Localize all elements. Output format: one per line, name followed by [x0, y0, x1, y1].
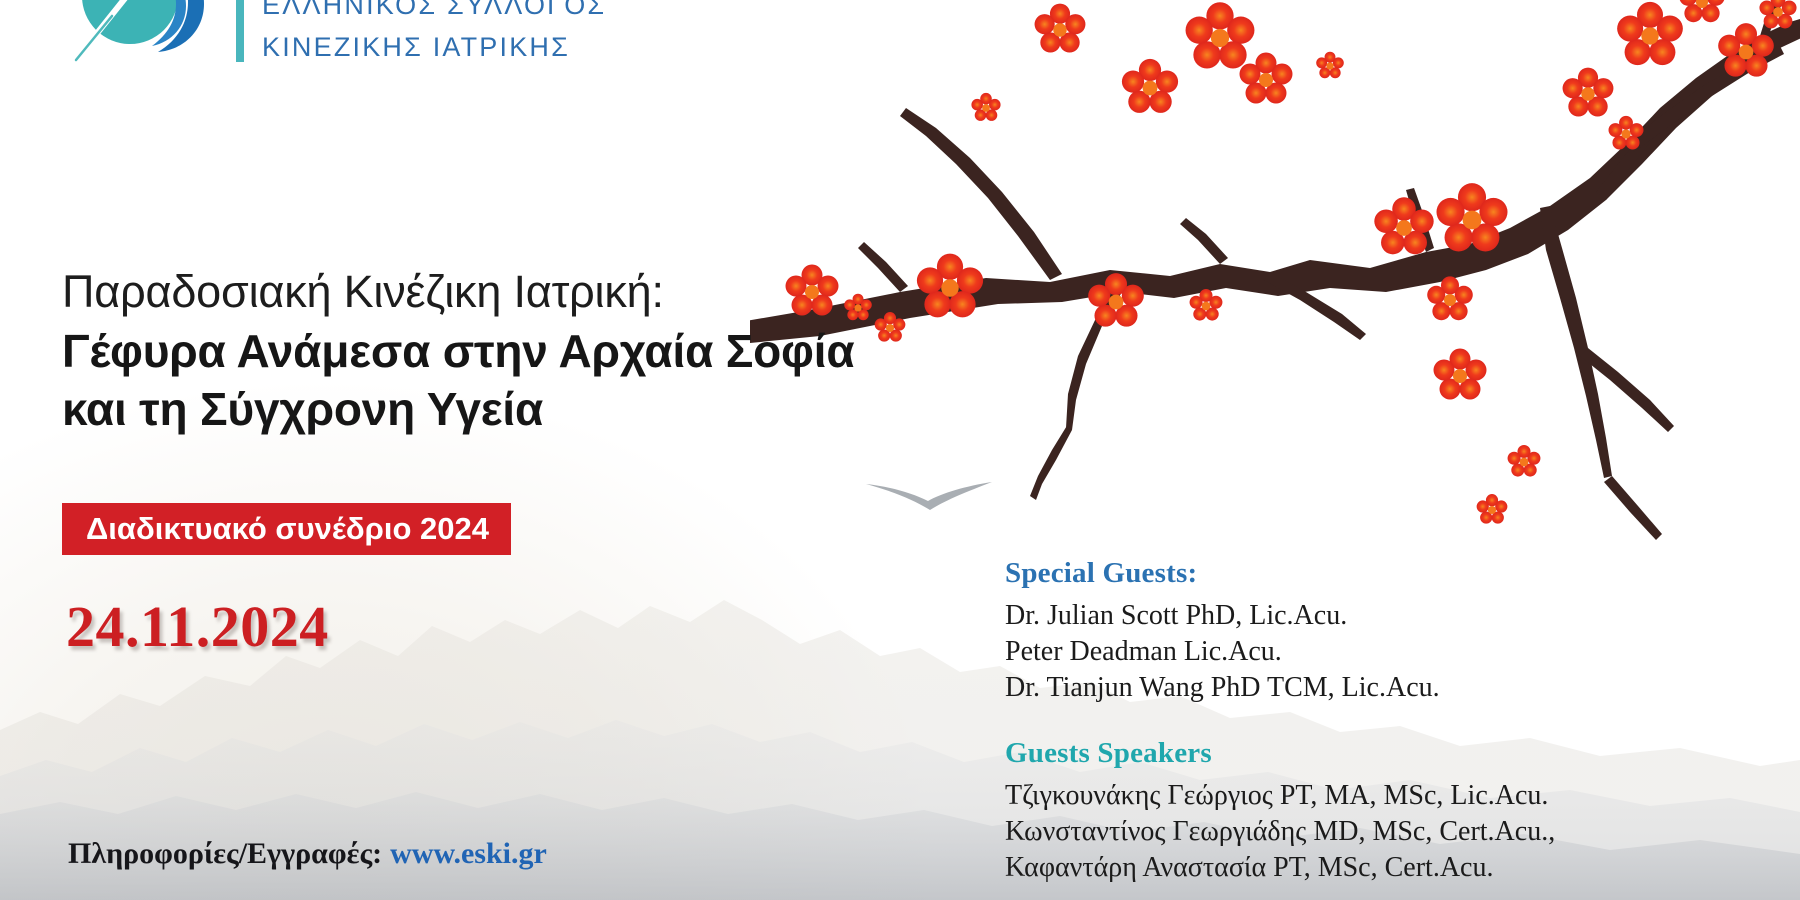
headline-line-2: Γέφυρα Ανάμεσα στην Αρχαία Σοφία	[62, 322, 942, 380]
event-type-banner: Διαδικτυακό συνέδριο 2024	[62, 503, 511, 555]
guest-speakers-heading: Guests Speakers	[1005, 732, 1705, 774]
logo-text-block: ΕΛΛΗΝΙΚΟΣ ΣΥΛΛΟΓΟΣ ΚΙΝΕΖΙΚΗΣ ΙΑΤΡΙΚΗΣ	[262, 0, 606, 68]
special-guests-heading: Special Guests:	[1005, 552, 1705, 594]
guest-speaker-item: Καφαντάρη Αναστασία PT, MSc, Cert.Acu.	[1005, 850, 1705, 886]
registration-info: Πληροφορίες/Εγγραφές:www.eski.gr	[68, 832, 547, 876]
flying-bird-silhouette	[862, 468, 1002, 528]
organization-logo: ΕΛΛΗΝΙΚΟΣ ΣΥΛΛΟΓΟΣ ΚΙΝΕΖΙΚΗΣ ΙΑΤΡΙΚΗΣ	[58, 0, 606, 72]
logo-divider	[236, 0, 244, 62]
special-guest-item: Dr. Julian Scott PhD, Lic.Acu.	[1005, 598, 1705, 634]
registration-label: Πληροφορίες/Εγγραφές:	[68, 837, 382, 870]
acupuncture-needle-emblem-icon	[58, 0, 218, 72]
guest-speaker-item: Τζιγκουνάκης Γεώργιος PT, MA, MSc, Lic.A…	[1005, 778, 1705, 814]
poster-headline: Παραδοσιακή Κινέζικη Ιατρική: Γέφυρα Ανά…	[62, 262, 942, 438]
guests-panel: Special Guests: Dr. Julian Scott PhD, Li…	[1005, 552, 1705, 886]
event-type-label: Διαδικτυακό συνέδριο 2024	[86, 503, 489, 555]
headline-line-1: Παραδοσιακή Κινέζικη Ιατρική:	[62, 262, 942, 322]
headline-line-3: και τη Σύγχρονη Υγεία	[62, 380, 942, 438]
poster-canvas: ΕΛΛΗΝΙΚΟΣ ΣΥΛΛΟΓΟΣ ΚΙΝΕΖΙΚΗΣ ΙΑΤΡΙΚΗΣ Πα…	[0, 0, 1800, 900]
logo-line-1: ΕΛΛΗΝΙΚΟΣ ΣΥΛΛΟΓΟΣ	[262, 0, 606, 26]
registration-url-link[interactable]: www.eski.gr	[390, 837, 547, 870]
special-guest-item: Dr. Tianjun Wang PhD TCM, Lic.Acu.	[1005, 670, 1705, 706]
special-guest-item: Peter Deadman Lic.Acu.	[1005, 634, 1705, 670]
logo-line-2: ΚΙΝΕΖΙΚΗΣ ΙΑΤΡΙΚΗΣ	[262, 26, 606, 68]
guest-speaker-item: Κωνσταντίνος Γεωργιάδης MD, MSc, Cert.Ac…	[1005, 814, 1705, 850]
event-date: 24.11.2024	[66, 592, 329, 662]
